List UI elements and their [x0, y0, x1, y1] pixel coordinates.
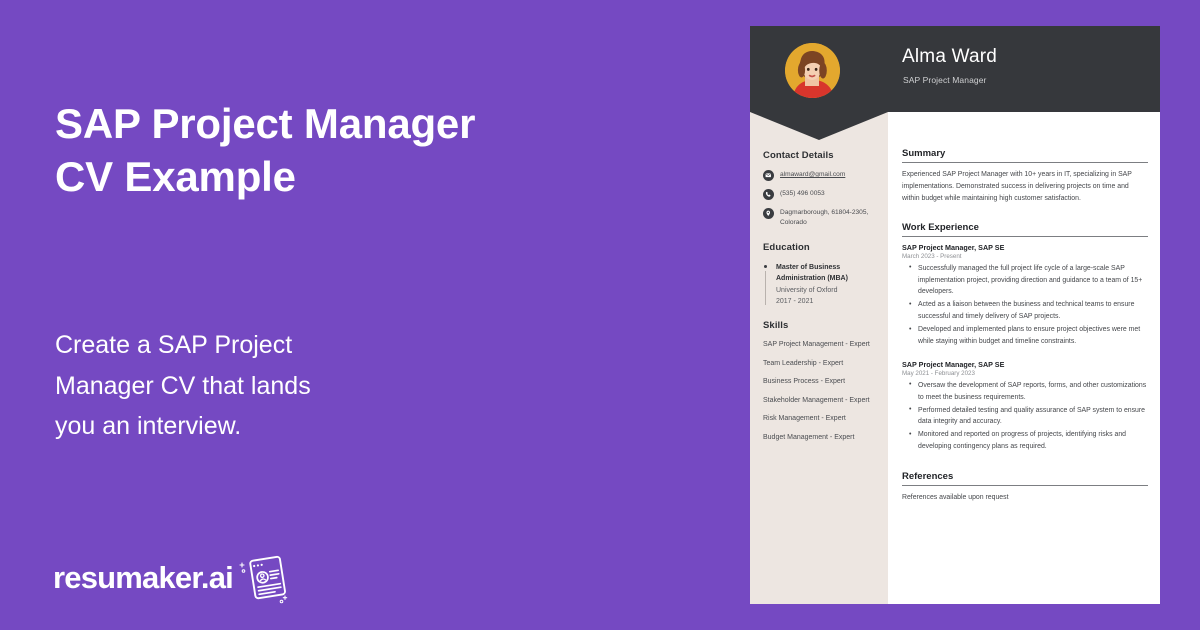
contact-item-phone: (535) 496 0053 [763, 189, 881, 200]
envelope-icon [763, 170, 774, 181]
summary-section: Summary Experienced SAP Project Manager … [902, 148, 1148, 205]
contact-phone-text: (535) 496 0053 [780, 189, 825, 199]
work-experience-divider [902, 236, 1148, 237]
phone-icon [763, 189, 774, 200]
education-title: Education [763, 242, 881, 253]
references-section: References References available upon req… [902, 471, 1148, 504]
job-title: SAP Project Manager, SAP SE [902, 243, 1148, 252]
promo-panel: SAP Project Manager CV Example Create a … [0, 0, 740, 630]
skills-section: Skills SAP Project Management - Expert T… [763, 320, 881, 451]
job-dates: May 2021 - February 2023 [902, 370, 1148, 377]
resume-name: Alma Ward [902, 46, 997, 68]
job-bullet: Oversaw the development of SAP reports, … [902, 380, 1148, 404]
contact-item-address: Dagmarborough, 61804-2305, Colorado [763, 208, 881, 228]
summary-divider [902, 162, 1148, 163]
education-item-text: Master of Business Administration (MBA) … [776, 262, 881, 307]
contact-item-email[interactable]: almaward@gmail.com [763, 170, 881, 181]
education-school: University of Oxford [776, 287, 837, 294]
contact-details-title: Contact Details [763, 150, 881, 161]
education-years: 2017 - 2021 [776, 298, 813, 305]
resume-preview-card[interactable]: Alma Ward SAP Project Manager Contact De… [750, 26, 1160, 604]
job-entry: SAP Project Manager, SAP SE May 2021 - F… [902, 360, 1148, 453]
references-title: References [902, 471, 1148, 485]
skill-item: Risk Management - Expert [763, 414, 881, 425]
avatar [785, 43, 840, 98]
education-item: Master of Business Administration (MBA) … [763, 262, 881, 307]
resumaker-logo[interactable]: resumaker.ai [53, 548, 291, 606]
promo-subheading: Create a SAP Project Manager CV that lan… [55, 325, 455, 447]
education-bullet-marker [763, 262, 770, 307]
skill-item: Business Process - Expert [763, 377, 881, 388]
job-bullet: Acted as a liaison between the business … [902, 299, 1148, 323]
work-experience-section: Work Experience SAP Project Manager, SAP… [902, 222, 1148, 453]
job-dates: March 2023 - Present [902, 253, 1148, 260]
resume-main-column: Summary Experienced SAP Project Manager … [902, 148, 1148, 504]
summary-title: Summary [902, 148, 1148, 162]
resume-document-icon [235, 550, 291, 606]
job-bullet: Performed detailed testing and quality a… [902, 405, 1148, 429]
references-text: References available upon request [902, 492, 1148, 504]
job-bullet: Successfully managed the full project li… [902, 263, 1148, 299]
skill-item: SAP Project Management - Expert [763, 340, 881, 351]
skill-item: Stakeholder Management - Expert [763, 396, 881, 407]
contact-address-text: Dagmarborough, 61804-2305, Colorado [780, 208, 881, 228]
job-title: SAP Project Manager, SAP SE [902, 360, 1148, 369]
references-divider [902, 485, 1148, 486]
education-section: Education Master of Business Administrat… [763, 242, 881, 307]
job-bullets: Successfully managed the full project li… [902, 263, 1148, 348]
logo-wordmark: resumaker.ai [53, 562, 233, 593]
job-bullet: Developed and implemented plans to ensur… [902, 324, 1148, 348]
page-title: SAP Project Manager CV Example [55, 98, 675, 204]
job-bullets: Oversaw the development of SAP reports, … [902, 380, 1148, 453]
contact-details-section: Contact Details almaward@gmail.com (535)… [763, 150, 881, 236]
job-bullet: Monitored and reported on progress of pr… [902, 429, 1148, 453]
location-pin-icon [763, 208, 774, 219]
education-degree: Master of Business Administration (MBA) [776, 264, 848, 282]
skill-item: Budget Management - Expert [763, 433, 881, 444]
work-experience-title: Work Experience [902, 222, 1148, 236]
contact-email-text[interactable]: almaward@gmail.com [780, 170, 845, 180]
skill-item: Team Leadership - Expert [763, 359, 881, 370]
skills-title: Skills [763, 320, 881, 331]
job-entry: SAP Project Manager, SAP SE March 2023 -… [902, 243, 1148, 348]
summary-text: Experienced SAP Project Manager with 10+… [902, 169, 1148, 205]
resume-role: SAP Project Manager [903, 75, 986, 85]
